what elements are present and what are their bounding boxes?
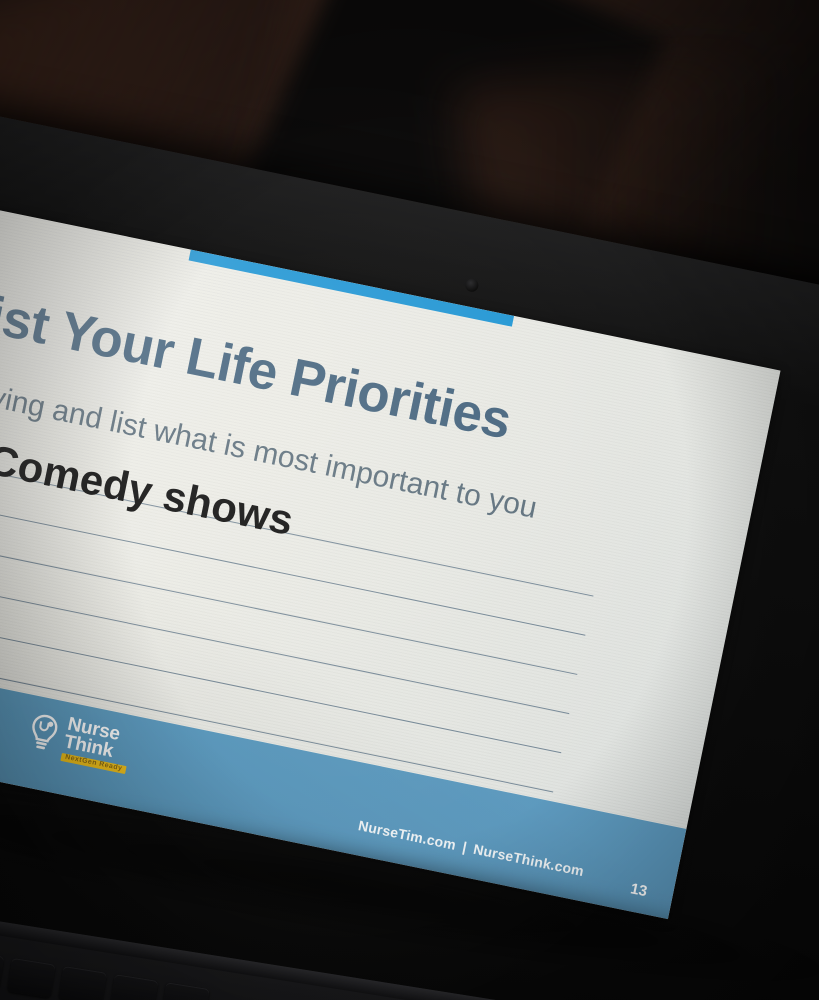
key-blank[interactable]: . — [110, 974, 159, 1000]
key-blank[interactable]: . — [161, 982, 210, 1000]
photo-scene: List Your Life Priorities Identifying an… — [0, 0, 819, 1000]
key-blank[interactable]: . — [7, 958, 56, 998]
lightbulb-stethoscope-icon — [23, 711, 64, 757]
nursethink-wordmark: Nurse Think NextGen Ready — [60, 716, 134, 775]
key-blank[interactable]: . — [58, 966, 107, 1000]
key-blank[interactable]: . — [0, 950, 4, 990]
nursethink-logo: Nurse Think NextGen Ready — [22, 708, 134, 775]
